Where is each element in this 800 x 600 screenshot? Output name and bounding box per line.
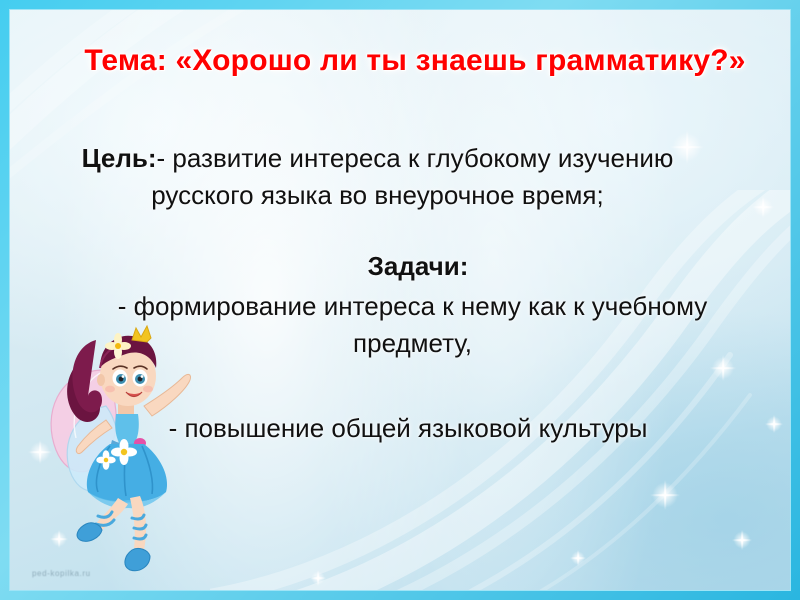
- task-item-1: - формирование интереса к нему как к уче…: [80, 288, 745, 362]
- slide-canvas: Тема: «Хорошо ли ты знаешь грамматику?» …: [0, 0, 800, 600]
- task-item-2: - повышение общей языковой культуры: [58, 410, 758, 447]
- slide-content-area: Тема: «Хорошо ли ты знаешь грамматику?» …: [9, 9, 791, 591]
- goal-label: Цель:: [82, 143, 157, 173]
- tasks-heading: Задачи:: [138, 250, 698, 282]
- watermark: ped-kopilka.ru: [32, 569, 91, 578]
- goal-text: - развитие интереса к глубокому изучению…: [151, 143, 673, 210]
- page-title: Тема: «Хорошо ли ты знаешь грамматику?»: [70, 42, 760, 80]
- goal-statement: Цель:- развитие интереса к глубокому изу…: [55, 140, 700, 214]
